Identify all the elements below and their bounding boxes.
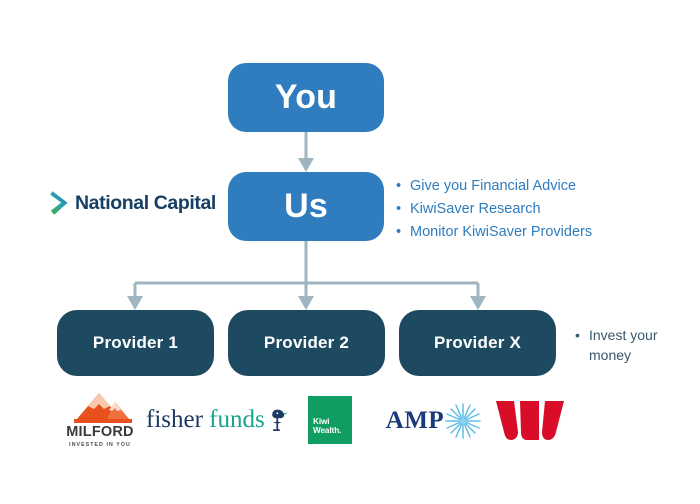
advice-bullet-item: Give you Financial Advice xyxy=(396,177,636,196)
invest-bullet-item: Invest your money xyxy=(575,325,695,365)
amp-wordmark: AMP xyxy=(386,407,444,435)
national-capital-wordmark: National Capital xyxy=(75,192,216,215)
milford-tagline: INVESTED IN YOU xyxy=(69,442,131,448)
amp-starburst-icon xyxy=(442,401,484,441)
diagram-canvas: You Us Provider 1 Provider 2 Provider X … xyxy=(0,0,700,504)
node-provider-1[interactable]: Provider 1 xyxy=(57,310,214,376)
milford-wordmark: MILFORD xyxy=(66,425,133,440)
logo-westpac xyxy=(490,398,570,444)
westpac-w-icon xyxy=(494,399,566,443)
kingfisher-bird-icon xyxy=(268,405,288,435)
logo-milford: MILFORD INVESTED IN YOU xyxy=(58,392,142,448)
logo-fisher-funds: fisher funds xyxy=(146,400,288,440)
chevron-right-icon xyxy=(50,190,70,216)
kiwi-wealth-tile: Kiwi Wealth. xyxy=(308,396,352,444)
advice-bullet-item: Monitor KiwiSaver Providers xyxy=(396,223,636,242)
advice-bullet-item: KiwiSaver Research xyxy=(396,200,636,219)
node-us[interactable]: Us xyxy=(228,172,384,241)
fisher-wordmark-part2: funds xyxy=(209,406,265,433)
milford-mountain-icon xyxy=(63,392,137,424)
provider-logo-strip: MILFORD INVESTED IN YOU fisher funds Kiw… xyxy=(50,392,580,450)
logo-amp: AMP xyxy=(380,400,490,442)
node-you[interactable]: You xyxy=(228,63,384,132)
logo-kiwi-wealth: Kiwi Wealth. xyxy=(308,396,352,444)
fisher-wordmark-part1: fisher xyxy=(146,406,203,433)
kiwi-wealth-line1: Kiwi xyxy=(313,417,341,426)
advice-bullet-list: Give you Financial Advice KiwiSaver Rese… xyxy=(396,177,636,246)
invest-bullet-list: Invest your money xyxy=(575,325,695,365)
kiwi-wealth-line2: Wealth. xyxy=(313,426,341,435)
node-provider-x[interactable]: Provider X xyxy=(399,310,556,376)
national-capital-logo: National Capital xyxy=(50,190,216,216)
node-provider-2[interactable]: Provider 2 xyxy=(228,310,385,376)
